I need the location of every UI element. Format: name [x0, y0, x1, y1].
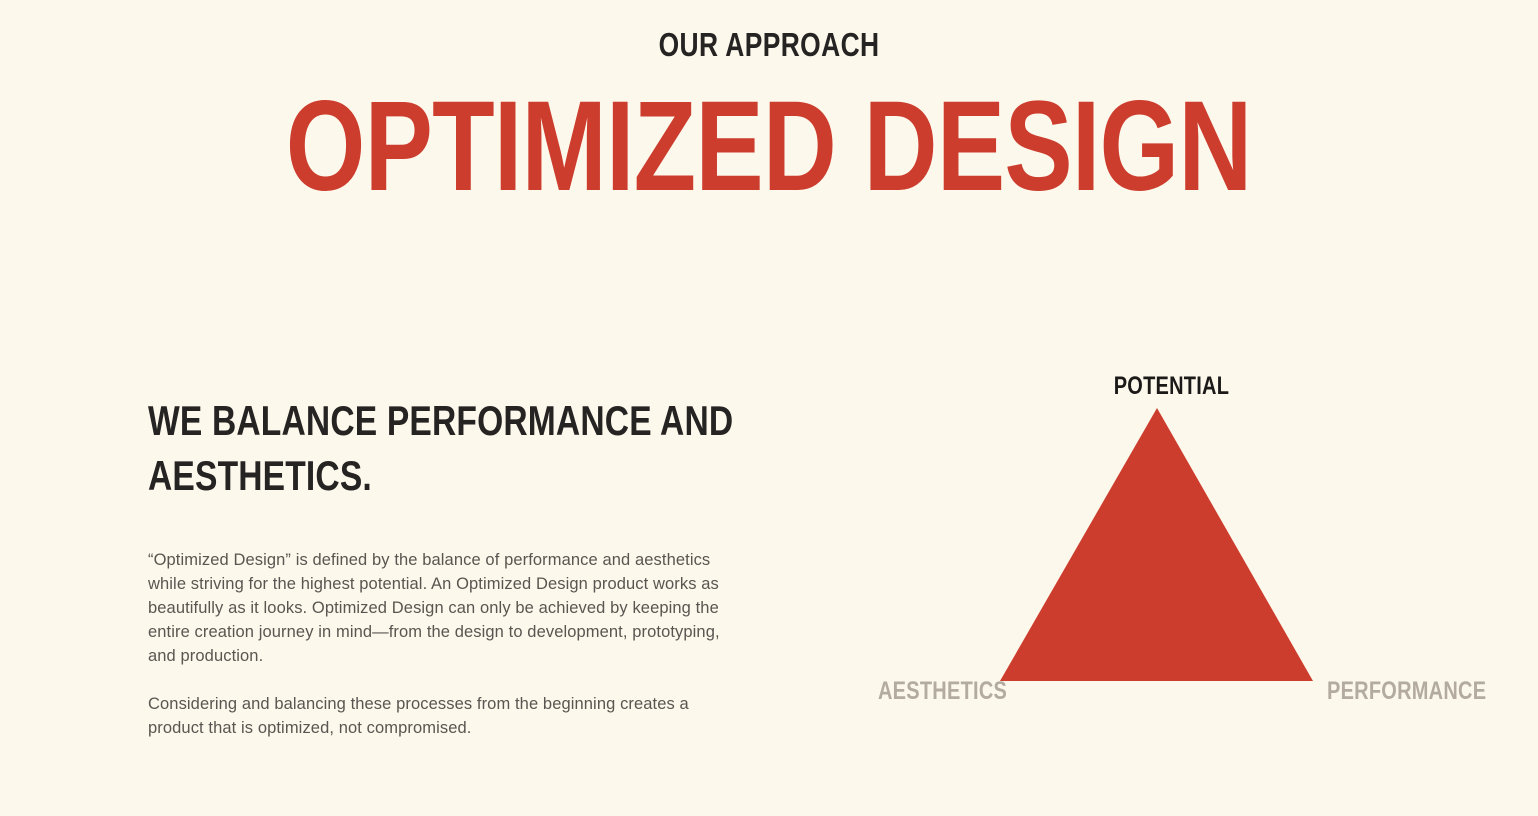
subheading-line-1: WE BALANCE PERFORMANCE AND: [148, 394, 740, 449]
section-subheading: WE BALANCE PERFORMANCE AND AESTHETICS.: [148, 394, 888, 503]
triangle-shape: [840, 355, 1500, 725]
vertex-label-potential: POTENTIAL: [1114, 372, 1230, 401]
content-column: WE BALANCE PERFORMANCE AND AESTHETICS. “…: [148, 394, 728, 740]
vertex-label-aesthetics: AESTHETICS: [878, 677, 1007, 706]
page-title: OPTIMIZED DESIGN: [286, 83, 1252, 211]
eyebrow-label: OUR APPROACH: [659, 26, 880, 64]
vertex-label-performance: PERFORMANCE: [1327, 677, 1486, 706]
title-wrap: OPTIMIZED DESIGN: [0, 83, 1538, 211]
body-paragraph-1: “Optimized Design” is defined by the bal…: [148, 548, 726, 668]
subheading-line-2: AESTHETICS.: [148, 449, 740, 504]
optimized-design-triangle-diagram: POTENTIAL AESTHETICS PERFORMANCE: [840, 355, 1500, 725]
body-paragraph-2: Considering and balancing these processe…: [148, 692, 726, 740]
eyebrow-wrap: OUR APPROACH: [0, 26, 1538, 64]
